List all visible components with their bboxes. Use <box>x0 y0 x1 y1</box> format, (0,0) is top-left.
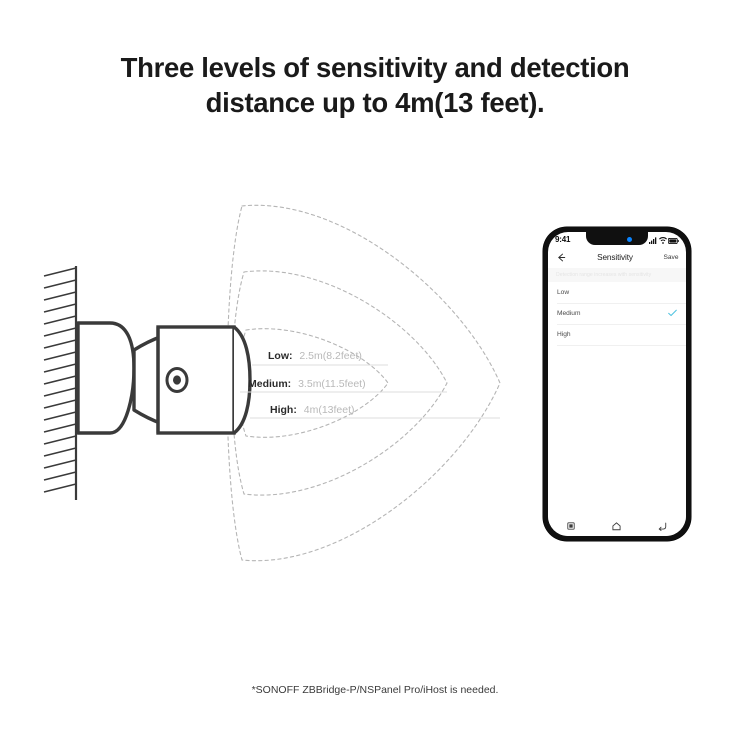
phone-mockup: 9:41 <box>543 227 691 541</box>
status-bar-time: 9:41 <box>555 235 570 244</box>
range-value-high: 4m(13feet) <box>304 404 355 416</box>
back-arrow-icon[interactable] <box>548 253 574 262</box>
option-label-low: Low <box>557 289 677 296</box>
wifi-icon <box>659 232 667 249</box>
range-row-high: High: 4m(13feet) <box>270 404 355 416</box>
phone-screen: 9:41 <box>548 232 686 536</box>
camera-active-indicator-dot <box>627 237 632 242</box>
footer-note: *SONOFF ZBBridge-P/NSPanel Pro/iHost is … <box>0 684 750 696</box>
option-row-low[interactable]: Low <box>548 282 686 303</box>
back-curve-icon[interactable] <box>658 522 667 531</box>
phone-notch <box>586 232 648 245</box>
range-value-medium: 3.5m(11.5feet) <box>298 378 366 390</box>
battery-icon <box>668 232 679 249</box>
sensitivity-hint-text: Detection range increases with sensitivi… <box>556 272 651 278</box>
option-row-medium[interactable]: Medium <box>548 303 686 324</box>
range-name-high: High: <box>270 404 297 416</box>
option-row-high[interactable]: High <box>548 324 686 345</box>
range-label-group: Low: 2.5m(8.2feet) Medium: 3.5m(11.5feet… <box>0 0 520 750</box>
page-root: Three levels of sensitivity and detectio… <box>0 0 750 750</box>
range-row-low: Low: 2.5m(8.2feet) <box>268 350 362 362</box>
android-nav-bar <box>548 516 686 536</box>
range-row-medium: Medium: 3.5m(11.5feet) <box>248 378 366 390</box>
app-bar-title: Sensitivity <box>574 253 656 262</box>
range-name-medium: Medium: <box>248 378 291 390</box>
home-pentagon-icon[interactable] <box>612 522 621 531</box>
option-label-high: High <box>557 331 677 338</box>
recents-square-icon[interactable] <box>567 522 575 530</box>
sensitivity-hint-banner: Detection range increases with sensitivi… <box>548 268 686 282</box>
status-bar-icons <box>649 232 679 249</box>
signal-bars-icon <box>649 232 657 249</box>
list-bottom-divider <box>557 345 686 346</box>
option-label-medium: Medium <box>557 310 668 317</box>
range-value-low: 2.5m(8.2feet) <box>299 350 361 362</box>
app-bar: Sensitivity Save <box>548 248 686 267</box>
save-button[interactable]: Save <box>656 254 686 261</box>
sensitivity-option-list: Low Medium High <box>548 282 686 345</box>
range-name-low: Low: <box>268 350 293 362</box>
checkmark-icon <box>668 309 677 319</box>
